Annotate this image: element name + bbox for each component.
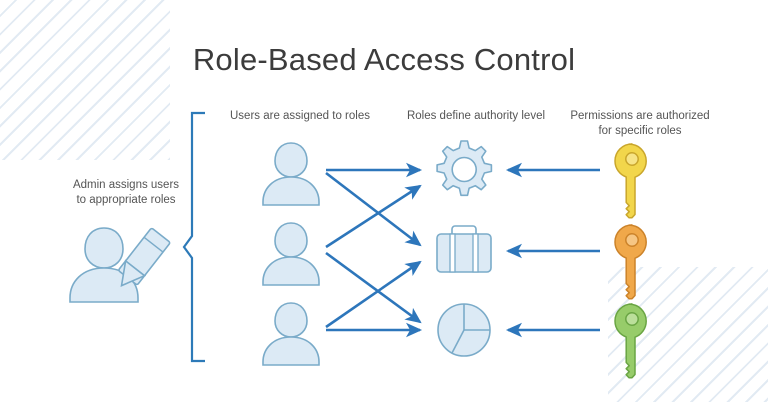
arrow-user2-role1 (326, 186, 420, 247)
key-icon (615, 144, 646, 218)
arrow-user3-role2 (326, 262, 420, 327)
key-icon (615, 304, 646, 378)
key-icon (615, 225, 646, 299)
arrow-user1-role2 (326, 173, 420, 245)
user-silhouette-icon (263, 223, 319, 285)
slide-canvas: Role-Based Access Control Admin assigns … (0, 0, 768, 402)
user-silhouette-icon (263, 303, 319, 365)
gear-icon (437, 141, 491, 195)
arrow-user2-role3 (326, 253, 420, 322)
admin-user-pencil-icon (70, 228, 170, 302)
rbac-diagram (0, 0, 768, 402)
grant-arrows (508, 170, 600, 330)
user-silhouette-icon (263, 143, 319, 205)
assignment-arrows (326, 170, 420, 330)
briefcase-icon (437, 226, 491, 272)
curly-brace-icon (184, 113, 205, 361)
pie-chart-icon (438, 304, 490, 356)
